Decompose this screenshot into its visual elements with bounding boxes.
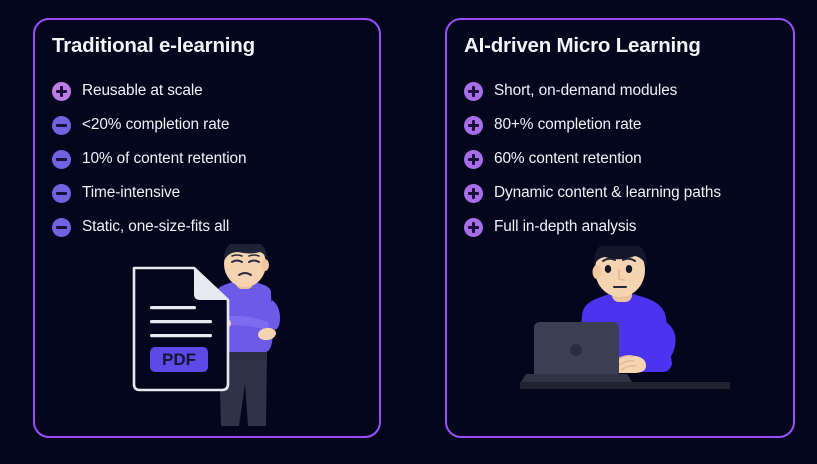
list-item-label: Time-intensive bbox=[82, 184, 180, 202]
list-item: 60% content retention bbox=[464, 142, 721, 176]
comparison-slide: Traditional e-learning Reusable at scale… bbox=[0, 0, 817, 464]
list-item: 80+% completion rate bbox=[464, 108, 721, 142]
list-item-label: 10% of content retention bbox=[82, 150, 246, 168]
plus-icon bbox=[464, 116, 483, 135]
card-title-ai-driven: AI-driven Micro Learning bbox=[464, 34, 701, 58]
list-item: Full in-depth analysis bbox=[464, 210, 721, 244]
list-item-label: <20% completion rate bbox=[82, 116, 229, 134]
minus-icon bbox=[52, 218, 71, 237]
list-item: Reusable at scale bbox=[52, 74, 246, 108]
list-item-label: Full in-depth analysis bbox=[494, 218, 636, 236]
card-ai-driven-micro-learning: AI-driven Micro Learning Short, on-deman… bbox=[445, 18, 795, 438]
list-item: Short, on-demand modules bbox=[464, 74, 721, 108]
minus-icon bbox=[52, 150, 71, 169]
minus-icon bbox=[52, 184, 71, 203]
list-item-label: Static, one-size-fits all bbox=[82, 218, 229, 236]
list-item: Time-intensive bbox=[52, 176, 246, 210]
list-item-label: Short, on-demand modules bbox=[494, 82, 677, 100]
list-item-label: Reusable at scale bbox=[82, 82, 203, 100]
list-item: 10% of content retention bbox=[52, 142, 246, 176]
list-item: Static, one-size-fits all bbox=[52, 210, 246, 244]
list-item-label: 60% content retention bbox=[494, 150, 642, 168]
plus-icon bbox=[464, 218, 483, 237]
plus-icon bbox=[52, 82, 71, 101]
list-item-label: Dynamic content & learning paths bbox=[494, 184, 721, 202]
minus-icon bbox=[52, 116, 71, 135]
plus-icon bbox=[464, 150, 483, 169]
bullet-list-ai-driven: Short, on-demand modules 80+% completion… bbox=[464, 74, 721, 244]
plus-icon bbox=[464, 184, 483, 203]
list-item-label: 80+% completion rate bbox=[494, 116, 641, 134]
list-item: Dynamic content & learning paths bbox=[464, 176, 721, 210]
plus-icon bbox=[464, 82, 483, 101]
card-title-traditional: Traditional e-learning bbox=[52, 34, 255, 58]
bullet-list-traditional: Reusable at scale <20% completion rate 1… bbox=[52, 74, 246, 244]
card-traditional-elearning: Traditional e-learning Reusable at scale… bbox=[33, 18, 381, 438]
list-item: <20% completion rate bbox=[52, 108, 246, 142]
